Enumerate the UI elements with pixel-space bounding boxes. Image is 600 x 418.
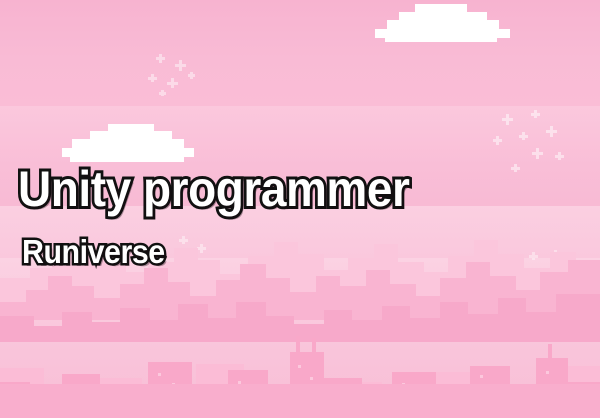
company-name: Runiverse	[22, 234, 165, 269]
job-title: Unity programmer	[18, 163, 409, 215]
game-banner: Unity programmer Runiverse	[0, 0, 600, 418]
banner-text-block: Unity programmer Runiverse	[0, 0, 600, 418]
